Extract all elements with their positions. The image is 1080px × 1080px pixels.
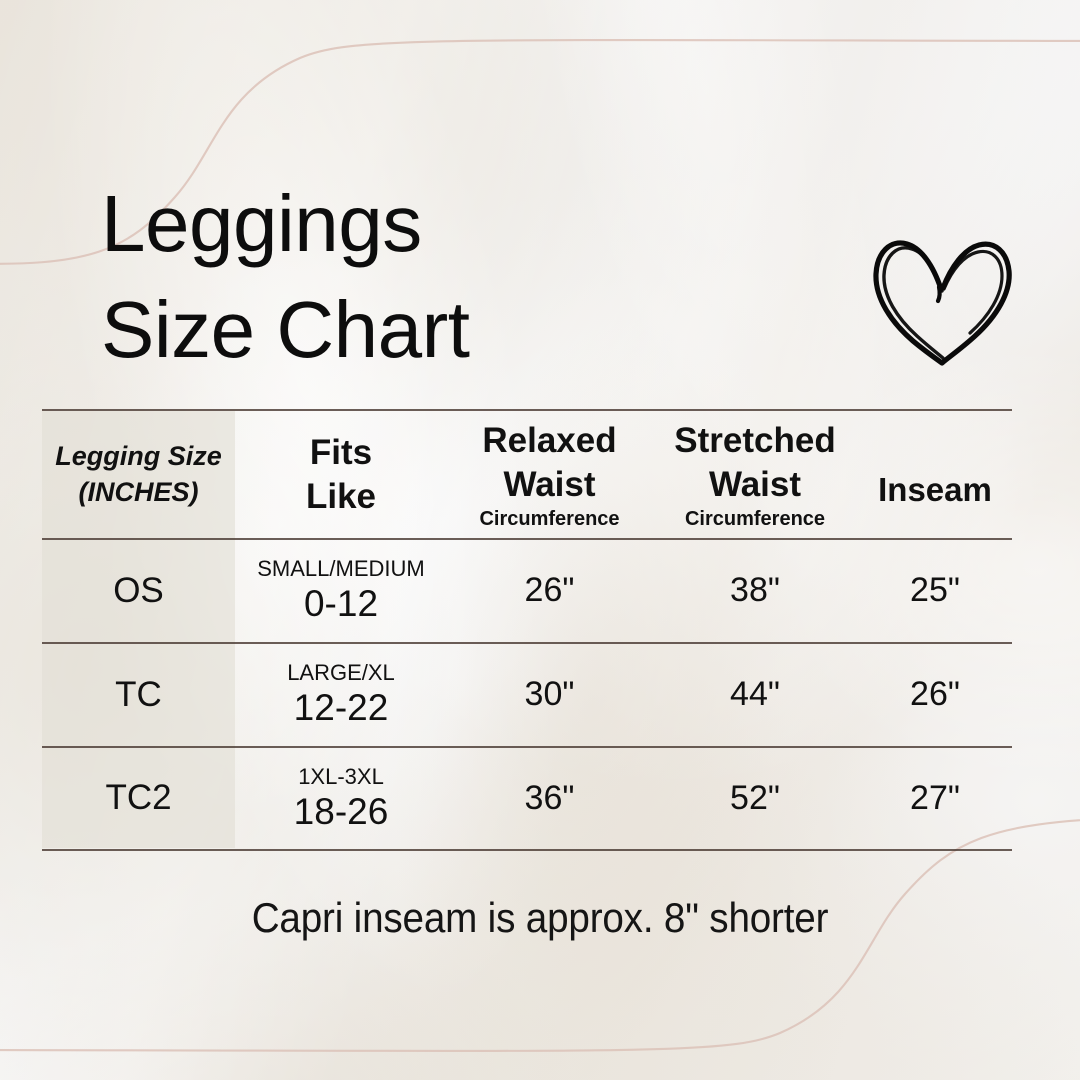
- value-inseam: 26": [910, 676, 960, 713]
- cell-relaxed-waist: 30": [447, 676, 652, 713]
- table-header-row: Legging Size (INCHES) Fits Like Relaxed …: [42, 411, 1012, 538]
- value-fits-like-label: 1XL-3XL: [298, 765, 384, 789]
- value-stretched-waist: 44": [730, 676, 780, 713]
- value-relaxed-waist: 26": [525, 572, 575, 609]
- size-chart-table: Legging Size (INCHES) Fits Like Relaxed …: [42, 409, 1012, 849]
- heart-doodle-icon: [869, 229, 1017, 367]
- value-size: TC: [115, 676, 162, 715]
- size-chart-poster: Leggings Size Chart Legging Size (INCHES…: [0, 0, 1080, 1080]
- table-row: TC LARGE/XL 12-22 30" 44" 26": [42, 644, 1012, 746]
- header-sublabel-relaxed-waist: Circumference: [479, 508, 619, 530]
- cell-relaxed-waist: 26": [447, 572, 652, 609]
- header-cell-fits-like: Fits Like: [235, 431, 447, 517]
- table-rule-bottom: [42, 849, 1012, 851]
- cell-fits-like: SMALL/MEDIUM 0-12: [235, 557, 447, 625]
- cell-size: TC: [42, 676, 235, 715]
- header-label-relaxed-waist: Relaxed Waist: [482, 419, 616, 505]
- cell-relaxed-waist: 36": [447, 780, 652, 817]
- header-cell-legging-size: Legging Size (INCHES): [42, 439, 235, 509]
- value-fits-like-label: LARGE/XL: [287, 661, 395, 685]
- value-inseam: 27": [910, 780, 960, 817]
- cell-fits-like: 1XL-3XL 18-26: [235, 765, 447, 833]
- cell-stretched-waist: 38": [652, 572, 858, 609]
- header-label-inseam: Inseam: [878, 470, 992, 510]
- value-fits-like-range: 18-26: [294, 791, 389, 832]
- header-label-legging-size: Legging Size (INCHES): [55, 439, 222, 509]
- header-label-stretched-waist: Stretched Waist: [674, 419, 835, 505]
- value-stretched-waist: 52": [730, 780, 780, 817]
- table-row: TC2 1XL-3XL 18-26 36" 52" 27": [42, 748, 1012, 849]
- header-sublabel-stretched-waist: Circumference: [685, 508, 825, 530]
- header-cell-relaxed-waist: Relaxed Waist Circumference: [447, 419, 652, 529]
- value-fits-like-range: 0-12: [304, 583, 378, 624]
- cell-stretched-waist: 44": [652, 676, 858, 713]
- value-size: OS: [113, 572, 164, 611]
- cell-fits-like: LARGE/XL 12-22: [235, 661, 447, 729]
- value-relaxed-waist: 36": [525, 780, 575, 817]
- cell-size: TC2: [42, 779, 235, 818]
- table-row: OS SMALL/MEDIUM 0-12 26" 38" 25": [42, 540, 1012, 642]
- header-cell-stretched-waist: Stretched Waist Circumference: [652, 419, 858, 529]
- value-relaxed-waist: 30": [525, 676, 575, 713]
- value-fits-like-range: 12-22: [294, 687, 389, 728]
- header-cell-inseam: Inseam: [858, 440, 1012, 510]
- page-title: Leggings Size Chart: [101, 171, 741, 382]
- header-label-fits-like: Fits Like: [306, 431, 376, 517]
- cell-size: OS: [42, 572, 235, 611]
- cell-inseam: 27": [858, 780, 1012, 817]
- value-size: TC2: [105, 779, 171, 818]
- value-stretched-waist: 38": [730, 572, 780, 609]
- value-fits-like-label: SMALL/MEDIUM: [257, 557, 424, 581]
- value-inseam: 25": [910, 572, 960, 609]
- cell-stretched-waist: 52": [652, 780, 858, 817]
- cell-inseam: 26": [858, 676, 1012, 713]
- cell-inseam: 25": [858, 572, 1012, 609]
- capri-inseam-note: Capri inseam is approx. 8" shorter: [43, 894, 1037, 942]
